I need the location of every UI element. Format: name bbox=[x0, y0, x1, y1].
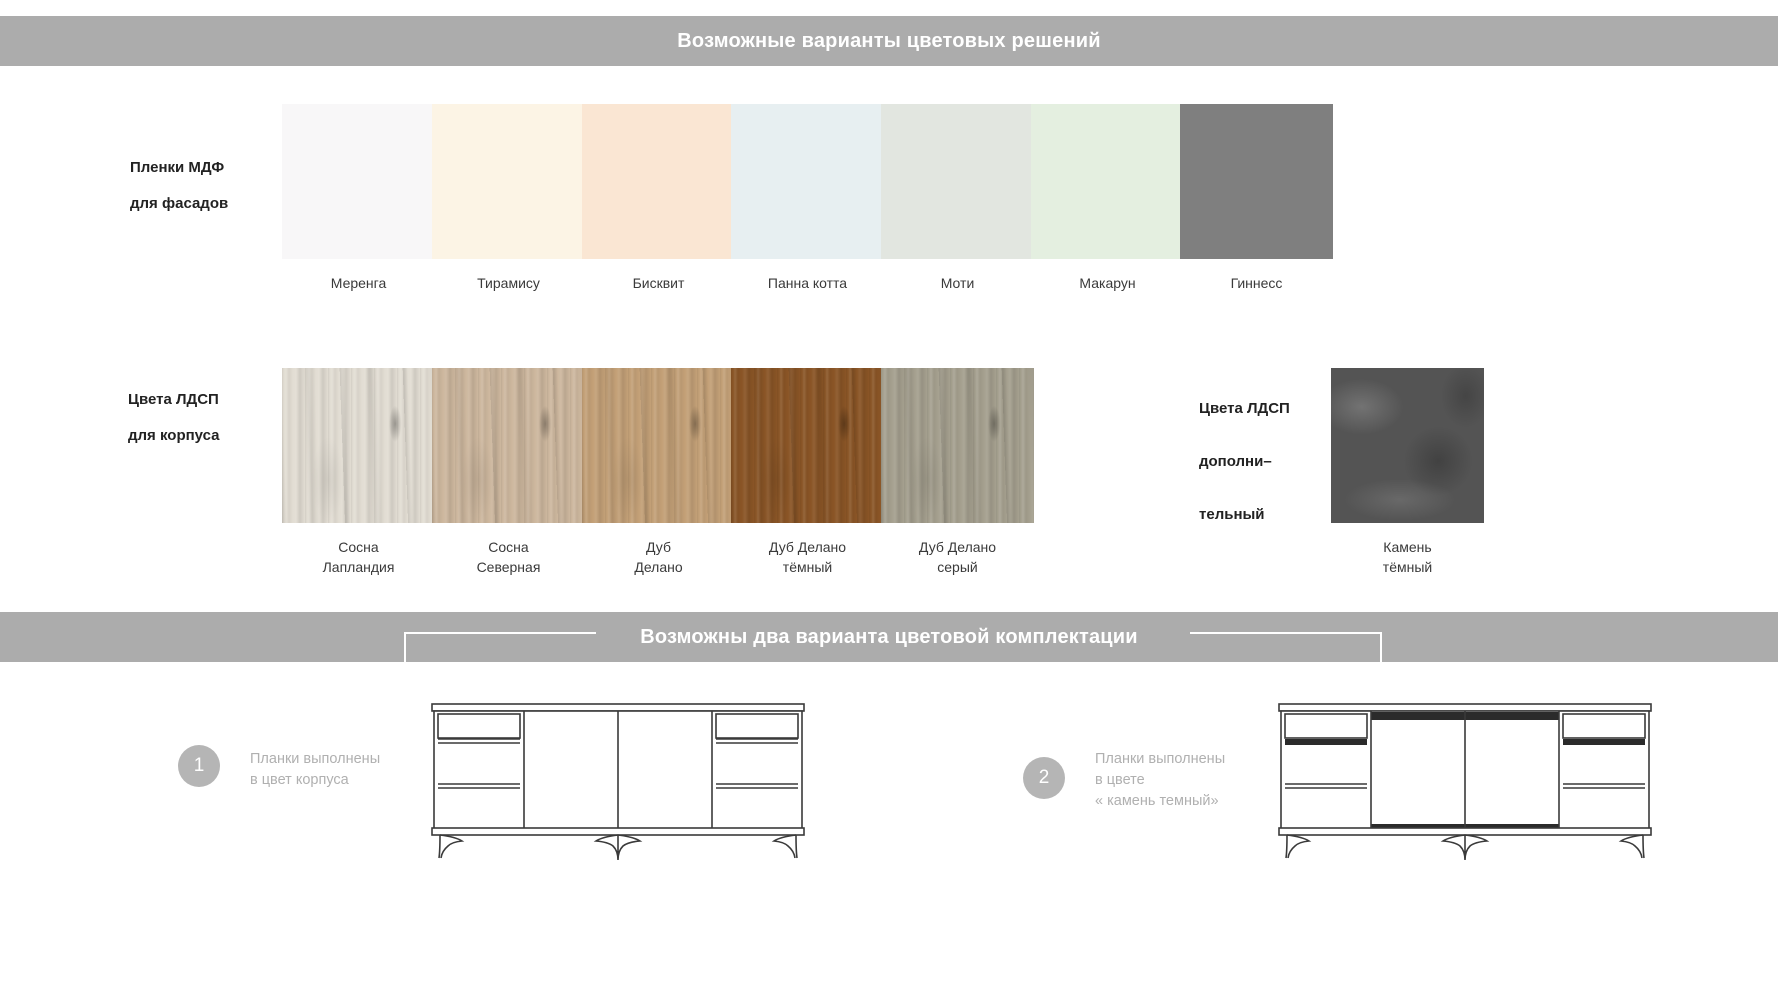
swatch-label-line2: тёмный bbox=[1331, 557, 1484, 577]
swatch-label-makarun: Макарун bbox=[1031, 273, 1184, 293]
catalog-page: Возможные варианты цветовых решений Плен… bbox=[0, 0, 1778, 1000]
swatch-label-kamen-temnyy: Камень тёмный bbox=[1331, 537, 1484, 577]
swatch-label-biskvit: Бисквит bbox=[582, 273, 735, 293]
swatch-label-merenga: Меренга bbox=[282, 273, 435, 293]
swatch-color-panna-kotta bbox=[731, 104, 884, 259]
swatch-label-line1: Дуб Делано bbox=[731, 537, 884, 557]
swatch-biskvit[interactable]: Бисквит bbox=[582, 104, 735, 293]
dark-plank-right bbox=[1563, 739, 1645, 745]
swatch-label-sosna-severnaya: Сосна Северная bbox=[432, 537, 585, 577]
option-1-line1: Планки выполнены bbox=[250, 749, 380, 770]
swatch-label-dub-delano-seryy: Дуб Делано серый bbox=[881, 537, 1034, 577]
swatch-ginness[interactable]: Гиннесс bbox=[1180, 104, 1333, 293]
swatch-color-tiramisu bbox=[432, 104, 585, 259]
row-label-ldsp: Цвета ЛДСП для корпуса bbox=[128, 382, 220, 454]
swatch-label-line1: Сосна bbox=[432, 537, 585, 557]
row-label-ldsp-extra-line3: тельный bbox=[1199, 488, 1290, 541]
dark-plank-left bbox=[1285, 739, 1367, 745]
row-label-ldsp-extra: Цвета ЛДСП дополни– тельный bbox=[1199, 382, 1290, 541]
swatch-label-line1: Дуб Делано bbox=[881, 537, 1034, 557]
swatch-label-dub-delano-temnyy: Дуб Делано тёмный bbox=[731, 537, 884, 577]
option-1-text: Планки выполнены в цвет корпуса bbox=[250, 749, 380, 791]
top-banner: Возможные варианты цветовых решений bbox=[0, 16, 1778, 66]
swatch-label-line2: Лапландия bbox=[282, 557, 435, 577]
option-2-text: Планки выполнены в цвете « камень темный… bbox=[1095, 749, 1225, 812]
swatch-color-makarun bbox=[1031, 104, 1184, 259]
swatch-makarun[interactable]: Макарун bbox=[1031, 104, 1184, 293]
swatch-moti[interactable]: Моти bbox=[881, 104, 1034, 293]
swatch-dub-delano-temnyy[interactable]: Дуб Делано тёмный bbox=[731, 368, 884, 577]
swatch-label-line2: тёмный bbox=[731, 557, 884, 577]
swatch-merenga[interactable]: Меренга bbox=[282, 104, 435, 293]
swatch-color-biskvit bbox=[582, 104, 735, 259]
swatch-label-line1: Дуб bbox=[582, 537, 735, 557]
swatch-sosna-laplandiya[interactable]: Сосна Лапландия bbox=[282, 368, 435, 577]
row-label-ldsp-line1: Цвета ЛДСП bbox=[128, 391, 219, 408]
option-2-line3: « камень темный» bbox=[1095, 791, 1225, 812]
row-label-mdf: Пленки МДФ для фасадов bbox=[130, 150, 228, 222]
swatch-color-dub-delano bbox=[582, 368, 735, 523]
row-label-mdf-line2: для фасадов bbox=[130, 186, 228, 222]
swatch-color-ginness bbox=[1180, 104, 1333, 259]
swatch-color-moti bbox=[881, 104, 1034, 259]
swatch-color-sosna-severnaya bbox=[432, 368, 585, 523]
swatch-label-dub-delano: Дуб Делано bbox=[582, 537, 735, 577]
swatch-color-merenga bbox=[282, 104, 435, 259]
swatch-label-tiramisu: Тирамису bbox=[432, 273, 585, 293]
swatch-color-dub-delano-temnyy bbox=[731, 368, 884, 523]
swatch-dub-delano-seryy[interactable]: Дуб Делано серый bbox=[881, 368, 1034, 577]
option-1-line2: в цвет корпуса bbox=[250, 770, 380, 791]
swatch-kamen-temnyy[interactable]: Камень тёмный bbox=[1331, 368, 1484, 577]
top-banner-title: Возможные варианты цветовых решений bbox=[677, 30, 1100, 53]
swatch-label-line2: Делано bbox=[582, 557, 735, 577]
row-label-mdf-line1: Пленки МДФ bbox=[130, 159, 224, 176]
option-2-line1: Планки выполнены bbox=[1095, 749, 1225, 770]
swatch-tiramisu[interactable]: Тирамису bbox=[432, 104, 585, 293]
swatch-label-panna-kotta: Панна котта bbox=[731, 273, 884, 293]
sideboard-drawing-option-2 bbox=[1275, 700, 1655, 860]
swatch-label-line1: Сосна bbox=[282, 537, 435, 557]
swatch-dub-delano[interactable]: Дуб Делано bbox=[582, 368, 735, 577]
option-1-number: 1 bbox=[194, 755, 205, 777]
sideboard-drawing-option-1 bbox=[428, 700, 808, 860]
row-label-ldsp-extra-line2: дополни– bbox=[1199, 435, 1290, 488]
bottom-banner: Возможны два варианта цветовой комплекта… bbox=[0, 612, 1778, 662]
swatch-panna-kotta[interactable]: Панна котта bbox=[731, 104, 884, 293]
swatch-sosna-severnaya[interactable]: Сосна Северная bbox=[432, 368, 585, 577]
swatch-label-moti: Моти bbox=[881, 273, 1034, 293]
option-2-line2: в цвете bbox=[1095, 770, 1225, 791]
swatch-label-sosna-laplandiya: Сосна Лапландия bbox=[282, 537, 435, 577]
swatch-label-ginness: Гиннесс bbox=[1180, 273, 1333, 293]
swatch-color-kamen-temnyy bbox=[1331, 368, 1484, 523]
option-2-number: 2 bbox=[1039, 767, 1050, 789]
swatch-label-line2: Северная bbox=[432, 557, 585, 577]
row-label-ldsp-extra-line1: Цвета ЛДСП bbox=[1199, 400, 1290, 417]
option-2-badge: 2 bbox=[1023, 757, 1065, 799]
swatch-label-line1: Камень bbox=[1331, 537, 1484, 557]
swatch-color-sosna-laplandiya bbox=[282, 368, 435, 523]
swatch-label-line2: серый bbox=[881, 557, 1034, 577]
option-1-badge: 1 bbox=[178, 745, 220, 787]
swatch-color-dub-delano-seryy bbox=[881, 368, 1034, 523]
row-label-ldsp-line2: для корпуса bbox=[128, 418, 220, 454]
bottom-banner-title: Возможны два варианта цветовой комплекта… bbox=[640, 626, 1138, 649]
